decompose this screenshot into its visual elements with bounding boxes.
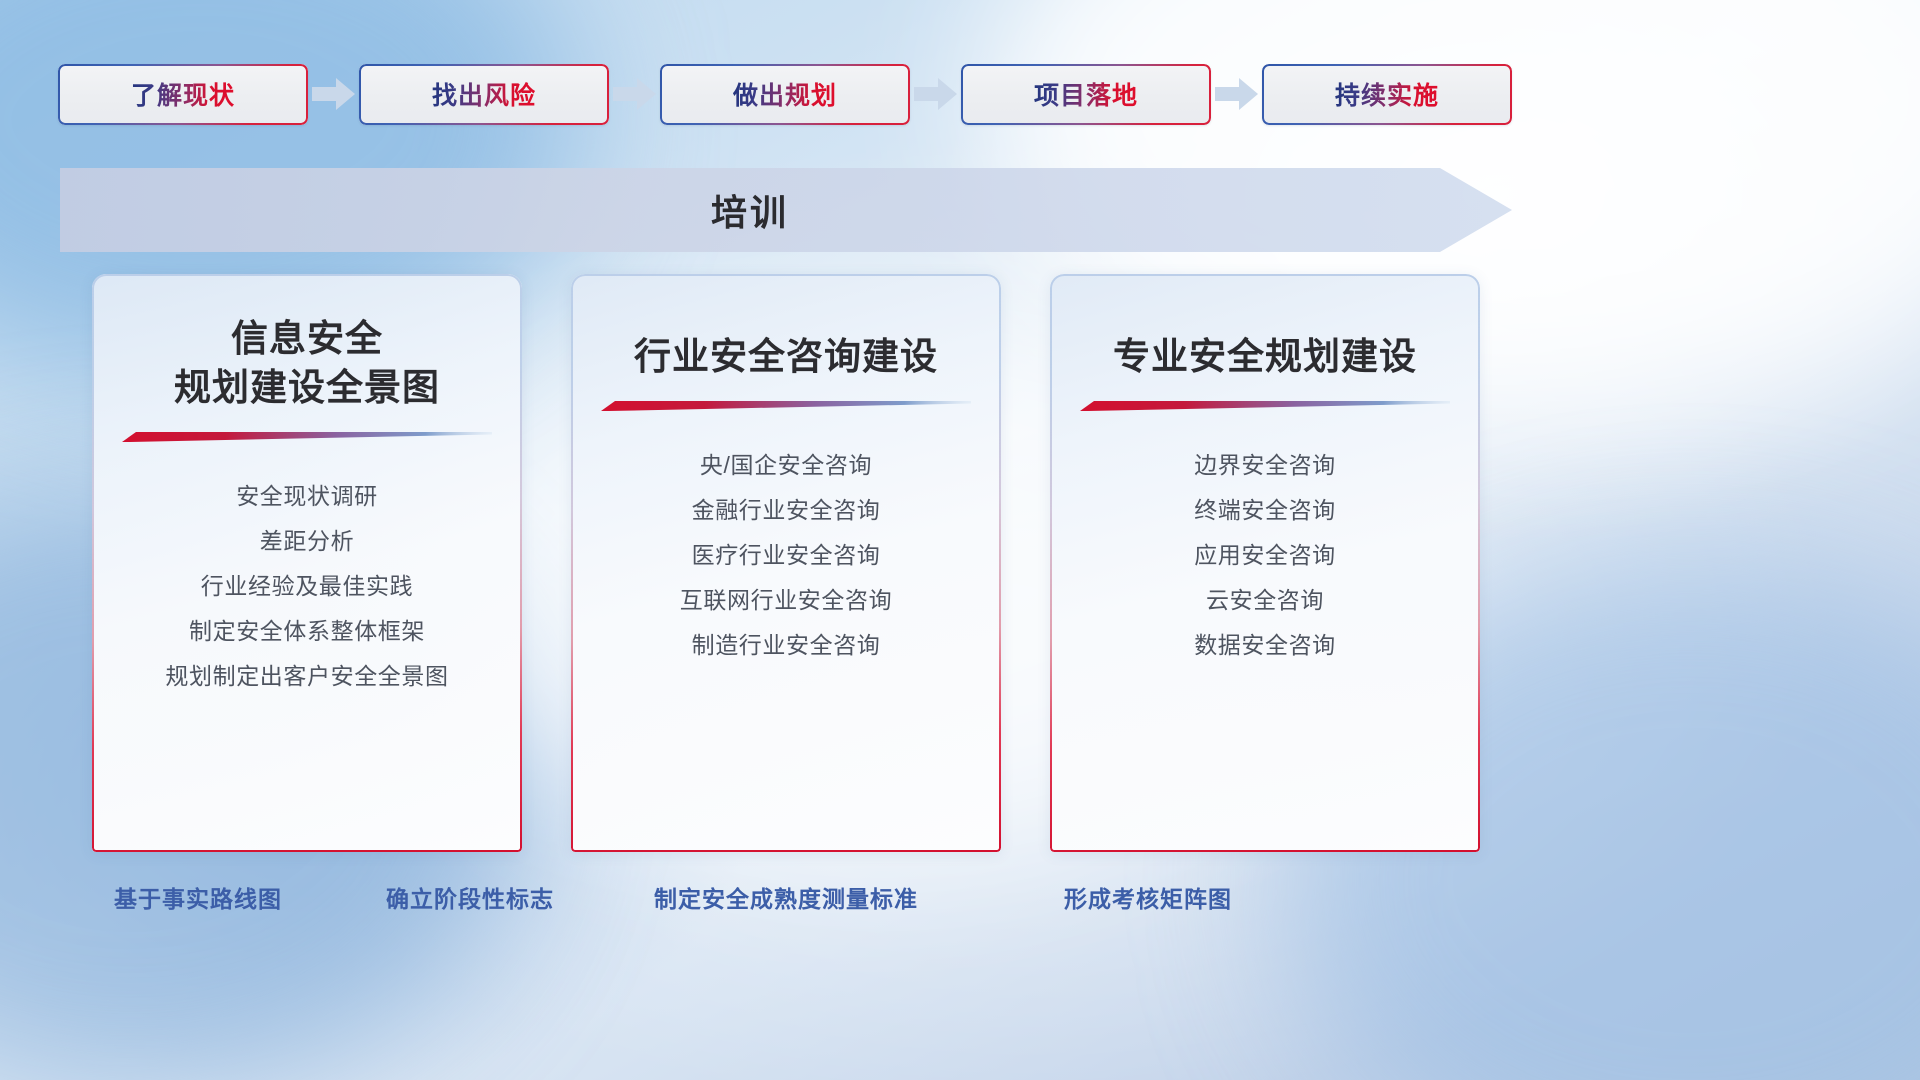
list-item: 医疗行业安全咨询 [692,533,881,578]
footnote-label: 形成考核矩阵图 [1064,880,1232,914]
step-box-3[interactable]: 做出规划 [660,64,910,125]
card-divider [92,430,522,452]
list-item: 金融行业安全咨询 [692,488,881,533]
card-title: 行业安全咨询建设 [571,332,1001,381]
list-item: 央/国企安全咨询 [700,443,872,488]
step-label: 持续实施 [1335,76,1439,112]
list-item: 终端安全咨询 [1194,488,1336,533]
card-title: 信息安全 规划建设全景图 [92,314,522,412]
arrow-right-icon [609,77,660,111]
footnote-label: 确立阶段性标志 [386,880,554,914]
list-item: 规划制定出客户安全全景图 [165,654,448,699]
card-title-line1: 专业安全规划建设 [1050,332,1480,381]
step-box-1[interactable]: 了解现状 [58,64,308,125]
step-label: 做出规划 [733,76,837,112]
footnote-label: 制定安全成熟度测量标准 [654,880,918,914]
card-information-security-panorama[interactable]: 信息安全 规划建设全景图 [92,274,522,852]
list-item: 应用安全咨询 [1194,533,1336,578]
step-box-4[interactable]: 项目落地 [961,64,1211,125]
list-item: 边界安全咨询 [1194,443,1336,488]
list-item: 行业经验及最佳实践 [201,564,413,609]
step-box-2[interactable]: 找出风险 [359,64,609,125]
card-divider [1050,399,1480,421]
training-banner: 培训 [60,168,1512,252]
slide-canvas: 了解现状 找出风险 做出规划 项目落地 [0,0,1920,1080]
card-list: 边界安全咨询 终端安全咨询 应用安全咨询 云安全咨询 数据安全咨询 [1050,443,1480,668]
card-row: 信息安全 规划建设全景图 [92,274,1480,854]
arrow-right-icon [910,77,961,111]
list-item: 制造行业安全咨询 [692,623,881,668]
step-label: 找出风险 [432,76,536,112]
list-item: 数据安全咨询 [1194,623,1336,668]
card-industry-security-consulting[interactable]: 行业安全咨询建设 央/国 [571,274,1001,852]
step-label: 了解现状 [131,76,235,112]
footnote-label: 基于事实路线图 [114,880,282,914]
card-title: 专业安全规划建设 [1050,332,1480,381]
arrow-right-icon [1211,77,1262,111]
footnote-row: 基于事实路线图 确立阶段性标志 制定安全成熟度测量标准 形成考核矩阵图 [0,880,1920,926]
process-step-flow: 了解现状 找出风险 做出规划 项目落地 [58,63,1508,125]
card-title-line2: 规划建设全景图 [92,363,522,412]
list-item: 云安全咨询 [1206,578,1324,623]
list-item: 制定安全体系整体框架 [189,609,425,654]
step-box-5[interactable]: 持续实施 [1262,64,1512,125]
card-title-line1: 信息安全 [92,314,522,363]
card-professional-security-planning[interactable]: 专业安全规划建设 边界安 [1050,274,1480,852]
card-divider [571,399,1001,421]
arrow-right-icon [308,77,359,111]
list-item: 安全现状调研 [236,474,378,519]
card-list: 央/国企安全咨询 金融行业安全咨询 医疗行业安全咨询 互联网行业安全咨询 制造行… [571,443,1001,668]
card-title-line1: 行业安全咨询建设 [571,332,1001,381]
step-label: 项目落地 [1034,76,1138,112]
banner-title: 培训 [60,168,1440,252]
card-list: 安全现状调研 差距分析 行业经验及最佳实践 制定安全体系整体框架 规划制定出客户… [92,474,522,699]
list-item: 互联网行业安全咨询 [680,578,892,623]
list-item: 差距分析 [260,519,354,564]
